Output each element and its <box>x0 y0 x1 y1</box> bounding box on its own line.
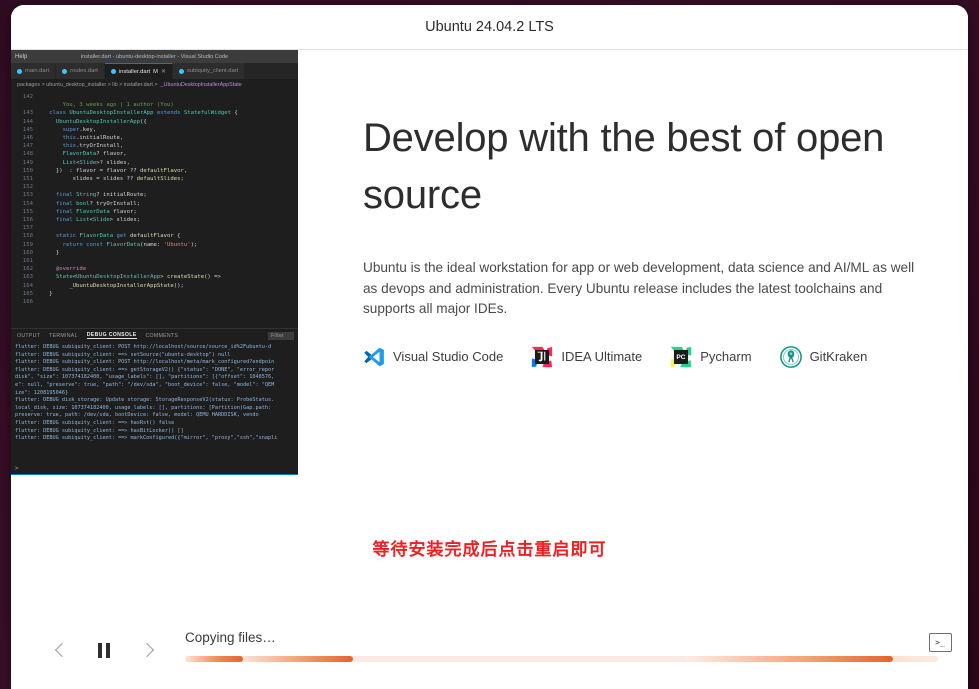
code-line-number: 146 <box>11 134 39 142</box>
chevron-right-icon <box>139 643 153 657</box>
code-line-number: 156 <box>11 216 39 224</box>
vscode-tab[interactable]: routes.dart <box>56 63 105 79</box>
dart-file-icon <box>62 69 67 74</box>
code-line: 157 <box>11 224 298 232</box>
previous-slide-button[interactable] <box>38 635 82 665</box>
code-line-text: class UbuntuDesktopInstallerApp extends … <box>39 109 298 117</box>
code-line-text: final FlavorData flavor; <box>39 208 298 216</box>
code-line-text: State<UbuntuDesktopInstallerApp> createS… <box>39 273 298 281</box>
code-line: 160 } <box>11 249 298 257</box>
installer-bottom-bar: Copying files… >_ <box>11 616 968 689</box>
code-line-text: return const FlavorData(name: 'Ubuntu'); <box>39 241 298 249</box>
vscode-tab-label: main.dart <box>25 68 49 74</box>
code-line: 162 @override <box>11 265 298 273</box>
show-terminal-button[interactable]: >_ <box>926 630 954 654</box>
vscode-tab[interactable]: subiquity_client.dart <box>173 63 245 79</box>
vscode-tab-label: installer.dart <box>119 69 150 75</box>
app-label: Visual Studio Code <box>393 349 503 364</box>
code-line: You, 3 weeks ago | 1 author (You) <box>11 101 298 109</box>
code-line: 147 this.tryOrInstall, <box>11 142 298 150</box>
code-line-number: 149 <box>11 159 39 167</box>
code-line-number: 154 <box>11 200 39 208</box>
code-line: 161 <box>11 257 298 265</box>
panel-tab-output[interactable]: OUTPUT <box>17 333 40 339</box>
console-line: local_disk, size: 107374182400, usage_la… <box>15 405 294 413</box>
code-line-number: 165 <box>11 290 39 298</box>
code-line: 158 static FlavorData get defaultFlavor … <box>11 232 298 240</box>
slide-text-column: Develop with the best of open source Ubu… <box>363 110 923 368</box>
console-line: flutter: DEBUG subiquity_client: POST ht… <box>15 344 294 352</box>
slide-screenshot-vscode: Help installer.dart - ubuntu-desktop-ins… <box>11 50 298 475</box>
code-line: 143 class UbuntuDesktopInstallerApp exte… <box>11 109 298 117</box>
code-line-text: } <box>39 249 298 257</box>
console-line: ize": 1208195046} <box>15 390 294 398</box>
code-line-number: 163 <box>11 273 39 281</box>
code-line: 144 UbuntuDesktopInstallerApp({ <box>11 118 298 126</box>
close-icon[interactable]: ✕ <box>161 68 166 75</box>
code-line: 150 }) : flavor = flavor ?? defaultFlavo… <box>11 167 298 175</box>
vscode-tab-label: subiquity_client.dart <box>187 68 238 74</box>
app-item-idea-ultimate: IDEA Ultimate <box>531 346 642 368</box>
console-line: e": null, "preserve": true, "path": "/de… <box>15 382 294 390</box>
vscode-menubar: Help installer.dart - ubuntu-desktop-ins… <box>11 50 298 63</box>
pycharm-icon: PC <box>670 346 692 368</box>
code-line-text <box>39 93 298 101</box>
code-line-number: 159 <box>11 241 39 249</box>
desktop-background: Ubuntu 24.04.2 LTS Help installer.dart -… <box>0 0 979 689</box>
console-line: flutter: DEBUG subiquity_client: ==> has… <box>15 420 294 428</box>
panel-tab-comments[interactable]: COMMENTS <box>146 333 179 339</box>
code-line-text: @override <box>39 265 298 273</box>
console-line: flutter: DEBUG subiquity_client: ==> mar… <box>15 435 294 443</box>
code-line-text: } <box>39 290 298 298</box>
installation-status-label: Copying files… <box>185 630 938 645</box>
code-line-number: 143 <box>11 109 39 117</box>
installation-progress-bar <box>185 656 938 662</box>
vscode-tab-label: routes.dart <box>70 68 98 74</box>
code-line: 166 <box>11 298 298 306</box>
vscode-tab[interactable]: main.dart <box>11 63 56 79</box>
code-line-text <box>39 183 298 191</box>
code-line-text <box>39 224 298 232</box>
console-line: flutter: DEBUG subiquity_client: ==> has… <box>15 428 294 436</box>
code-line-number: 155 <box>11 208 39 216</box>
window-titlebar: Ubuntu 24.04.2 LTS <box>11 5 968 50</box>
app-label: Pycharm <box>700 349 751 364</box>
pause-icon <box>98 643 110 658</box>
vscode-status-bar: desktop_installer (ubuntu-desktop-instal… <box>11 474 298 475</box>
svg-text:PC: PC <box>677 353 686 360</box>
code-line: 152 <box>11 183 298 191</box>
dart-file-icon <box>179 69 184 74</box>
vscode-debug-input[interactable]: > <box>11 463 298 474</box>
code-line-text: super.key, <box>39 126 298 134</box>
vscode-editor-tabs: main.dart routes.dart installer.dart M ✕ <box>11 63 298 79</box>
code-line-number: 144 <box>11 118 39 126</box>
app-item-pycharm: PC Pycharm <box>670 346 751 368</box>
code-line: 149 List<Slide>? slides, <box>11 159 298 167</box>
code-line-text: this.tryOrInstall, <box>39 142 298 150</box>
code-line-text <box>39 298 298 306</box>
code-line-text: _UbuntuDesktopInstallerAppState(); <box>39 282 298 290</box>
code-line-text: FlavorData? flavor, <box>39 150 298 158</box>
code-line: 148 FlavorData? flavor, <box>11 150 298 158</box>
vscode-tab-modified-indicator: M <box>153 69 158 75</box>
code-line: 156 final List<Slide> slides; <box>11 216 298 224</box>
code-line-number: 162 <box>11 265 39 273</box>
code-line-number: 158 <box>11 232 39 240</box>
panel-filter-input[interactable]: Filter <box>268 332 294 340</box>
code-line-text <box>39 257 298 265</box>
app-item-visual-studio-code: Visual Studio Code <box>363 346 503 368</box>
code-line-text: slides = slides ?? defaultSlides; <box>39 175 298 183</box>
code-line-number: 150 <box>11 167 39 175</box>
code-line: 145 super.key, <box>11 126 298 134</box>
code-line-number: 145 <box>11 126 39 134</box>
code-line: 165 } <box>11 290 298 298</box>
slide-body-text: Ubuntu is the ideal workstation for app … <box>363 258 923 320</box>
progress-segment <box>893 656 938 662</box>
code-line-number: 166 <box>11 298 39 306</box>
code-line-text: List<Slide>? slides, <box>39 159 298 167</box>
code-line: 155 final FlavorData flavor; <box>11 208 298 216</box>
next-slide-button[interactable] <box>126 635 170 665</box>
app-item-gitkraken: GitKraken <box>780 346 868 368</box>
app-logo-list: Visual Studio Code <box>363 346 923 368</box>
terminal-icon: >_ <box>929 633 952 652</box>
vscode-window-title: installer.dart - ubuntu-desktop-installe… <box>11 54 298 60</box>
dart-file-icon <box>17 69 22 74</box>
code-line: 154 final bool? tryOrInstall; <box>11 200 298 208</box>
app-label: GitKraken <box>810 349 868 364</box>
window-title: Ubuntu 24.04.2 LTS <box>425 19 554 35</box>
vscode-breadcrumb: packages > ubuntu_desktop_installer > li… <box>11 79 298 91</box>
vscode-code-editor: 142 You, 3 weeks ago | 1 author (You)143… <box>11 91 298 328</box>
installer-window: Ubuntu 24.04.2 LTS Help installer.dart -… <box>11 5 968 689</box>
slide-headline: Develop with the best of open source <box>363 110 923 224</box>
slideshow-controls <box>38 635 170 665</box>
terminal-glyph: >_ <box>935 639 945 647</box>
vscode-debug-console-output: flutter: DEBUG subiquity_client: POST ht… <box>11 342 298 463</box>
console-line: flutter: DEBUG subiquity_client: ==> get… <box>15 367 294 375</box>
code-line: 153 final String? initialRoute; <box>11 191 298 199</box>
code-line-number: 160 <box>11 249 39 257</box>
vscode-panel-tabs: OUTPUT TERMINAL DEBUG CONSOLE COMMENTS F… <box>11 328 298 342</box>
code-line-number: 151 <box>11 175 39 183</box>
console-line: flutter: DEBUG subiquity_client: POST ht… <box>15 359 294 367</box>
code-line-text: final String? initialRoute; <box>39 191 298 199</box>
code-line-number: 164 <box>11 282 39 290</box>
panel-tab-terminal[interactable]: TERMINAL <box>49 333 78 339</box>
code-line: 159 return const FlavorData(name: 'Ubunt… <box>11 241 298 249</box>
chevron-left-icon <box>54 643 68 657</box>
code-line-number: 142 <box>11 93 39 101</box>
vscode-icon <box>363 346 385 368</box>
code-line-text: static FlavorData get defaultFlavor { <box>39 232 298 240</box>
installation-status-area: Copying files… <box>185 630 938 662</box>
app-label: IDEA Ultimate <box>561 349 642 364</box>
code-line-number: 153 <box>11 191 39 199</box>
progress-segment <box>243 656 353 662</box>
breadcrumb-path: packages > ubuntu_desktop_installer > li… <box>17 82 158 88</box>
panel-tab-debug-console[interactable]: DEBUG CONSOLE <box>87 332 137 339</box>
pause-slideshow-button[interactable] <box>82 635 126 665</box>
code-line-text: You, 3 weeks ago | 1 author (You) <box>39 101 298 109</box>
console-line: disk", "size": 107374182400, "usage_labe… <box>15 374 294 382</box>
reboot-notice-text: 等待安装完成后点击重启即可 <box>11 535 968 560</box>
code-line-number: 147 <box>11 142 39 150</box>
breadcrumb-symbol: _UbuntuDesktopInstallerAppState <box>161 82 242 88</box>
prompt-caret: > <box>15 465 19 472</box>
gitkraken-icon <box>780 346 802 368</box>
console-line: preserve: true, path: /dev/sda, bootDevi… <box>15 412 294 420</box>
code-line-text: }) : flavor = flavor ?? defaultFlavor, <box>39 167 298 175</box>
vscode-tab-active[interactable]: installer.dart M ✕ <box>105 63 173 79</box>
progress-segment <box>685 656 893 662</box>
intellij-idea-icon <box>531 346 553 368</box>
code-line-text: final List<Slide> slides; <box>39 216 298 224</box>
code-line-text: this.initialRoute, <box>39 134 298 142</box>
code-line-number: 161 <box>11 257 39 265</box>
code-line: 164 _UbuntuDesktopInstallerAppState(); <box>11 282 298 290</box>
console-line: flutter: DEBUG subiquity_client: ==> set… <box>15 352 294 360</box>
code-line-number: 152 <box>11 183 39 191</box>
code-line-number: 148 <box>11 150 39 158</box>
console-line: flutter: DEBUG disk_storage: Update stor… <box>15 397 294 405</box>
code-line: 142 <box>11 93 298 101</box>
dart-file-icon <box>111 69 116 74</box>
code-line-text: final bool? tryOrInstall; <box>39 200 298 208</box>
code-line-text: UbuntuDesktopInstallerApp({ <box>39 118 298 126</box>
progress-segment <box>185 656 243 662</box>
code-line: 146 this.initialRoute, <box>11 134 298 142</box>
code-line: 151 slides = slides ?? defaultSlides; <box>11 175 298 183</box>
slideshow-content: Help installer.dart - ubuntu-desktop-ins… <box>11 50 968 616</box>
code-line-number: 157 <box>11 224 39 232</box>
code-line: 163 State<UbuntuDesktopInstallerApp> cre… <box>11 273 298 281</box>
code-line-number <box>11 101 39 109</box>
